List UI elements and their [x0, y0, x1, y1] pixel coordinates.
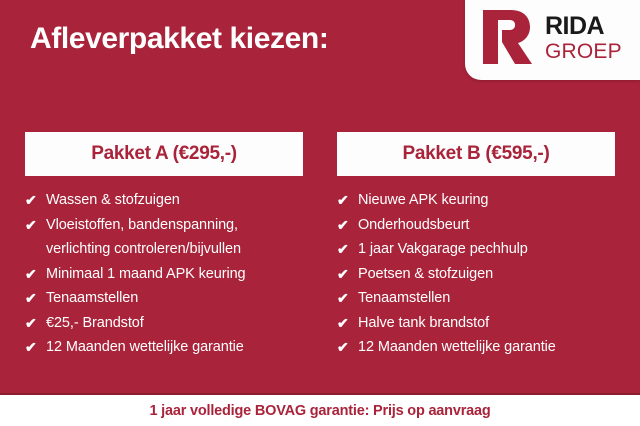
package-a-heading: Pakket A (€295,-) — [91, 143, 237, 165]
list-item-label: Tenaamstellen — [46, 286, 303, 311]
rida-r-monogram-icon — [477, 6, 539, 68]
check-icon: ✔ — [25, 188, 41, 213]
list-item: ✔Vloeistoffen, bandenspanning,verlichtin… — [25, 213, 303, 262]
check-icon: ✔ — [337, 286, 353, 311]
list-item-label: Onderhoudsbeurt — [358, 213, 615, 238]
check-icon: ✔ — [337, 335, 353, 360]
list-item: ✔Wassen & stofzuigen — [25, 188, 303, 213]
list-item: ✔Poetsen & stofzuigen — [337, 262, 615, 287]
check-icon: ✔ — [25, 311, 41, 336]
check-icon: ✔ — [25, 286, 41, 311]
list-item-label: €25,- Brandstof — [46, 311, 303, 336]
package-column-a: Pakket A (€295,-) ✔Wassen & stofzuigen✔V… — [25, 132, 303, 360]
list-item: ✔12 Maanden wettelijke garantie — [337, 335, 615, 360]
check-icon: ✔ — [337, 237, 353, 262]
afleverpakket-poster: Afleverpakket kiezen: RIDA GROEP Pakket … — [0, 0, 640, 426]
list-item-label: Halve tank brandstof — [358, 311, 615, 336]
check-icon: ✔ — [337, 188, 353, 213]
list-item: ✔Nieuwe APK keuring — [337, 188, 615, 213]
poster-header: Afleverpakket kiezen: RIDA GROEP — [0, 0, 640, 94]
list-item-label: Wassen & stofzuigen — [46, 188, 303, 213]
footer-guarantee-text: 1 jaar volledige BOVAG garantie: Prijs o… — [149, 403, 490, 419]
page-title: Afleverpakket kiezen: — [30, 22, 328, 56]
list-item-label: Poetsen & stofzuigen — [358, 262, 615, 287]
list-item: ✔Tenaamstellen — [25, 286, 303, 311]
package-a-feature-list: ✔Wassen & stofzuigen✔Vloeistoffen, bande… — [25, 188, 303, 360]
package-b-feature-list: ✔Nieuwe APK keuring✔Onderhoudsbeurt✔1 ja… — [337, 188, 615, 360]
check-icon: ✔ — [25, 262, 41, 287]
list-item: ✔Onderhoudsbeurt — [337, 213, 615, 238]
check-icon: ✔ — [337, 311, 353, 336]
check-icon: ✔ — [337, 213, 353, 238]
list-item: ✔Minimaal 1 maand APK keuring — [25, 262, 303, 287]
check-icon: ✔ — [25, 335, 41, 360]
list-item-label: 12 Maanden wettelijke garantie — [358, 335, 615, 360]
check-icon: ✔ — [25, 213, 41, 238]
list-item: ✔Halve tank brandstof — [337, 311, 615, 336]
check-icon: ✔ — [337, 262, 353, 287]
package-a-heading-box: Pakket A (€295,-) — [25, 132, 303, 176]
logo-wordmark: RIDA GROEP — [545, 14, 622, 62]
rida-groep-logo: RIDA GROEP — [465, 0, 640, 80]
list-item: ✔12 Maanden wettelijke garantie — [25, 335, 303, 360]
list-item-label: 12 Maanden wettelijke garantie — [46, 335, 303, 360]
list-item: ✔1 jaar Vakgarage pechhulp — [337, 237, 615, 262]
list-item: ✔€25,- Brandstof — [25, 311, 303, 336]
logo-word-groep: GROEP — [545, 41, 622, 62]
package-b-heading-box: Pakket B (€595,-) — [337, 132, 615, 176]
package-column-b: Pakket B (€595,-) ✔Nieuwe APK keuring✔On… — [337, 132, 615, 360]
logo-word-rida: RIDA — [545, 14, 622, 39]
list-item-label: Nieuwe APK keuring — [358, 188, 615, 213]
list-item: ✔Tenaamstellen — [337, 286, 615, 311]
package-b-heading: Pakket B (€595,-) — [403, 143, 550, 165]
list-item-label: Vloeistoffen, bandenspanning,verlichting… — [46, 213, 303, 262]
footer-bar: 1 jaar volledige BOVAG garantie: Prijs o… — [0, 395, 640, 426]
list-item-label: 1 jaar Vakgarage pechhulp — [358, 237, 615, 262]
list-item-label: Tenaamstellen — [358, 286, 615, 311]
list-item-label: Minimaal 1 maand APK keuring — [46, 262, 303, 287]
